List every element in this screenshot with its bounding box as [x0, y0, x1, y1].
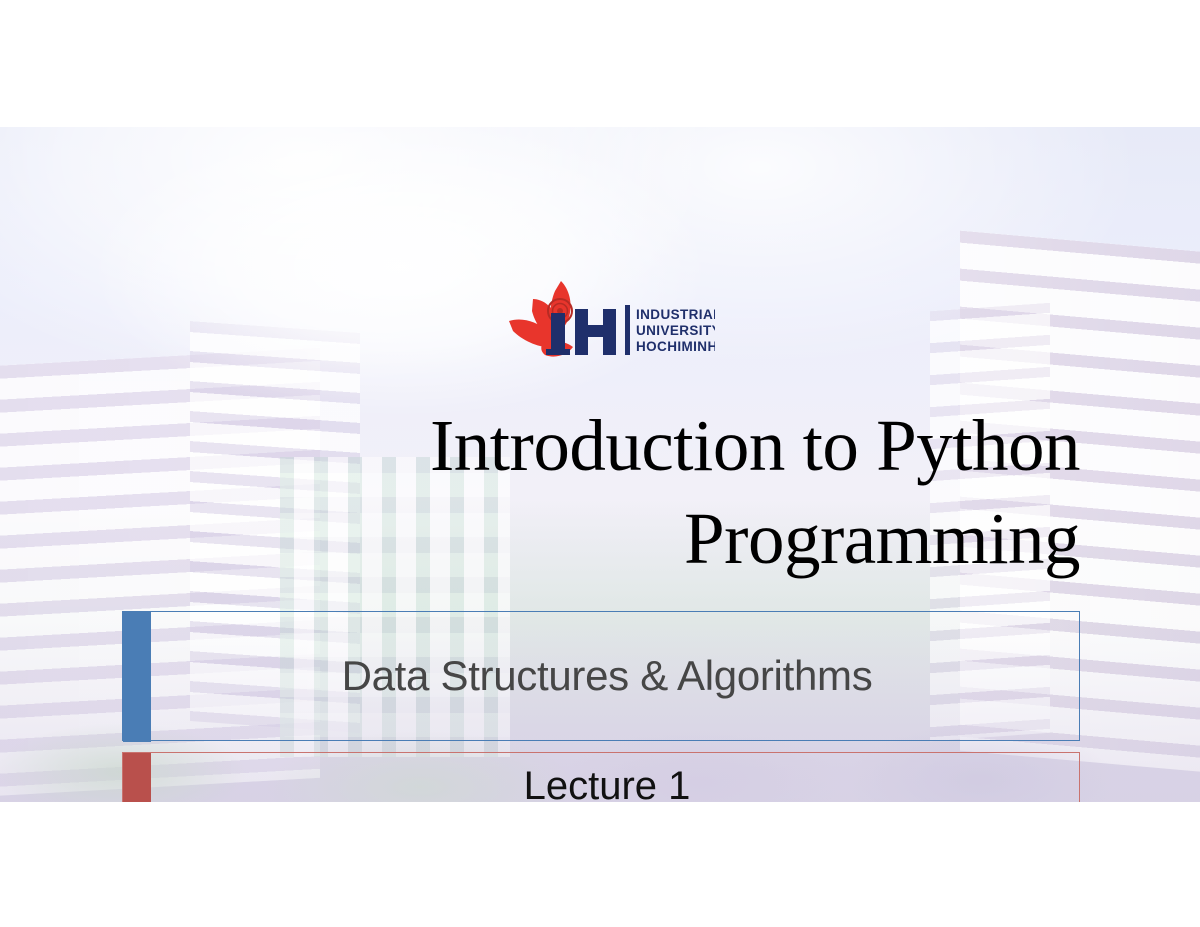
logo-org-text: INDUSTRIAL UNIVERSITY OF HOCHIMINH CITY: [636, 307, 715, 354]
subtitle-box: Data Structures & Algorithms: [122, 611, 1080, 741]
title-slide: INDUSTRIAL UNIVERSITY OF HOCHIMINH CITY …: [0, 127, 1200, 802]
ih-monogram: [546, 309, 616, 355]
lecture-accent-bar: [123, 753, 151, 802]
slide-title: Introduction to Python Programming: [150, 409, 1080, 575]
lecture-text: Lecture 1: [123, 764, 1079, 803]
title-line-1: Introduction to Python: [150, 409, 1080, 482]
svg-text:HOCHIMINH CITY: HOCHIMINH CITY: [636, 339, 715, 354]
subtitle-accent-bar: [123, 612, 151, 742]
svg-text:UNIVERSITY OF: UNIVERSITY OF: [636, 323, 715, 338]
svg-text:INDUSTRIAL: INDUSTRIAL: [636, 307, 715, 322]
background-sky-wash: [90, 127, 710, 417]
subtitle-text: Data Structures & Algorithms: [123, 652, 1079, 700]
title-line-2: Programming: [150, 502, 1080, 575]
logo-divider: [625, 305, 630, 355]
slide-page: INDUSTRIAL UNIVERSITY OF HOCHIMINH CITY …: [0, 0, 1200, 927]
lecture-box: Lecture 1: [122, 752, 1080, 802]
university-logo: INDUSTRIAL UNIVERSITY OF HOCHIMINH CITY: [503, 273, 715, 363]
